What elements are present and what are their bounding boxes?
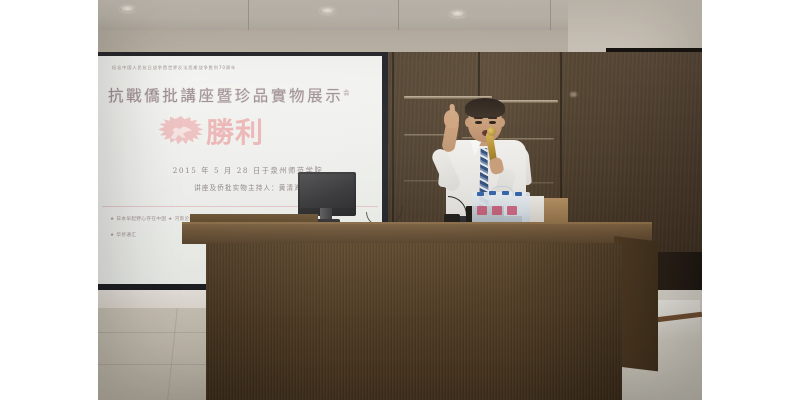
victory-logo-characters: 勝利 <box>206 117 264 149</box>
ceiling-downlight <box>120 6 135 12</box>
slide-title-text: 抗戰僑批講座暨珍品實物展示 <box>108 87 343 105</box>
letterbox-bar-right <box>702 0 800 400</box>
ceiling-seam <box>248 0 249 30</box>
floor-tile-line <box>167 308 178 400</box>
eye-right <box>489 121 496 124</box>
screenshot-root: 纪念中国人民抗日战争暨世界反法西斯战争胜利70周年 抗戰僑批講座暨珍品實物展示会… <box>0 0 800 400</box>
letterbox-bar-left <box>0 0 98 400</box>
ceiling-downlight <box>320 8 335 14</box>
monitor-rear-panel <box>300 174 354 208</box>
cardboard-box <box>542 198 568 224</box>
bottle-label <box>492 206 502 215</box>
bottle-cap <box>502 191 509 195</box>
podium-shading <box>206 243 622 400</box>
bottle-cap <box>489 191 496 195</box>
victory-logo: 勝利 <box>158 116 280 150</box>
ceiling-downlight <box>450 11 465 17</box>
bottle-label <box>507 206 517 215</box>
slide-title: 抗戰僑批講座暨珍品實物展示会 <box>108 84 376 106</box>
hair <box>465 98 505 118</box>
bottle-cap <box>477 192 484 196</box>
ear-right <box>499 118 505 127</box>
slide-title-tail: 会 <box>343 90 349 97</box>
eyebrow-left <box>474 117 483 119</box>
wall-fitting <box>570 92 577 97</box>
slide-subtitle: 纪念中国人民抗日战争暨世界反法西斯战争胜利70周年 <box>112 65 362 71</box>
ceiling-seam <box>550 0 551 30</box>
index-finger <box>449 104 455 117</box>
eyebrow-right <box>488 117 497 119</box>
bottle-label <box>477 206 487 215</box>
lecture-photo: 纪念中国人民抗日战争暨世界反法西斯战争胜利70周年 抗戰僑批講座暨珍品實物展示会… <box>98 0 702 400</box>
ear-left <box>465 118 471 127</box>
bottle-cap <box>515 192 522 196</box>
podium-top <box>182 224 652 244</box>
slide-bullet: ★ 华侨通汇 <box>110 232 136 238</box>
eye-left <box>475 121 482 124</box>
ceiling-seam <box>398 0 399 30</box>
